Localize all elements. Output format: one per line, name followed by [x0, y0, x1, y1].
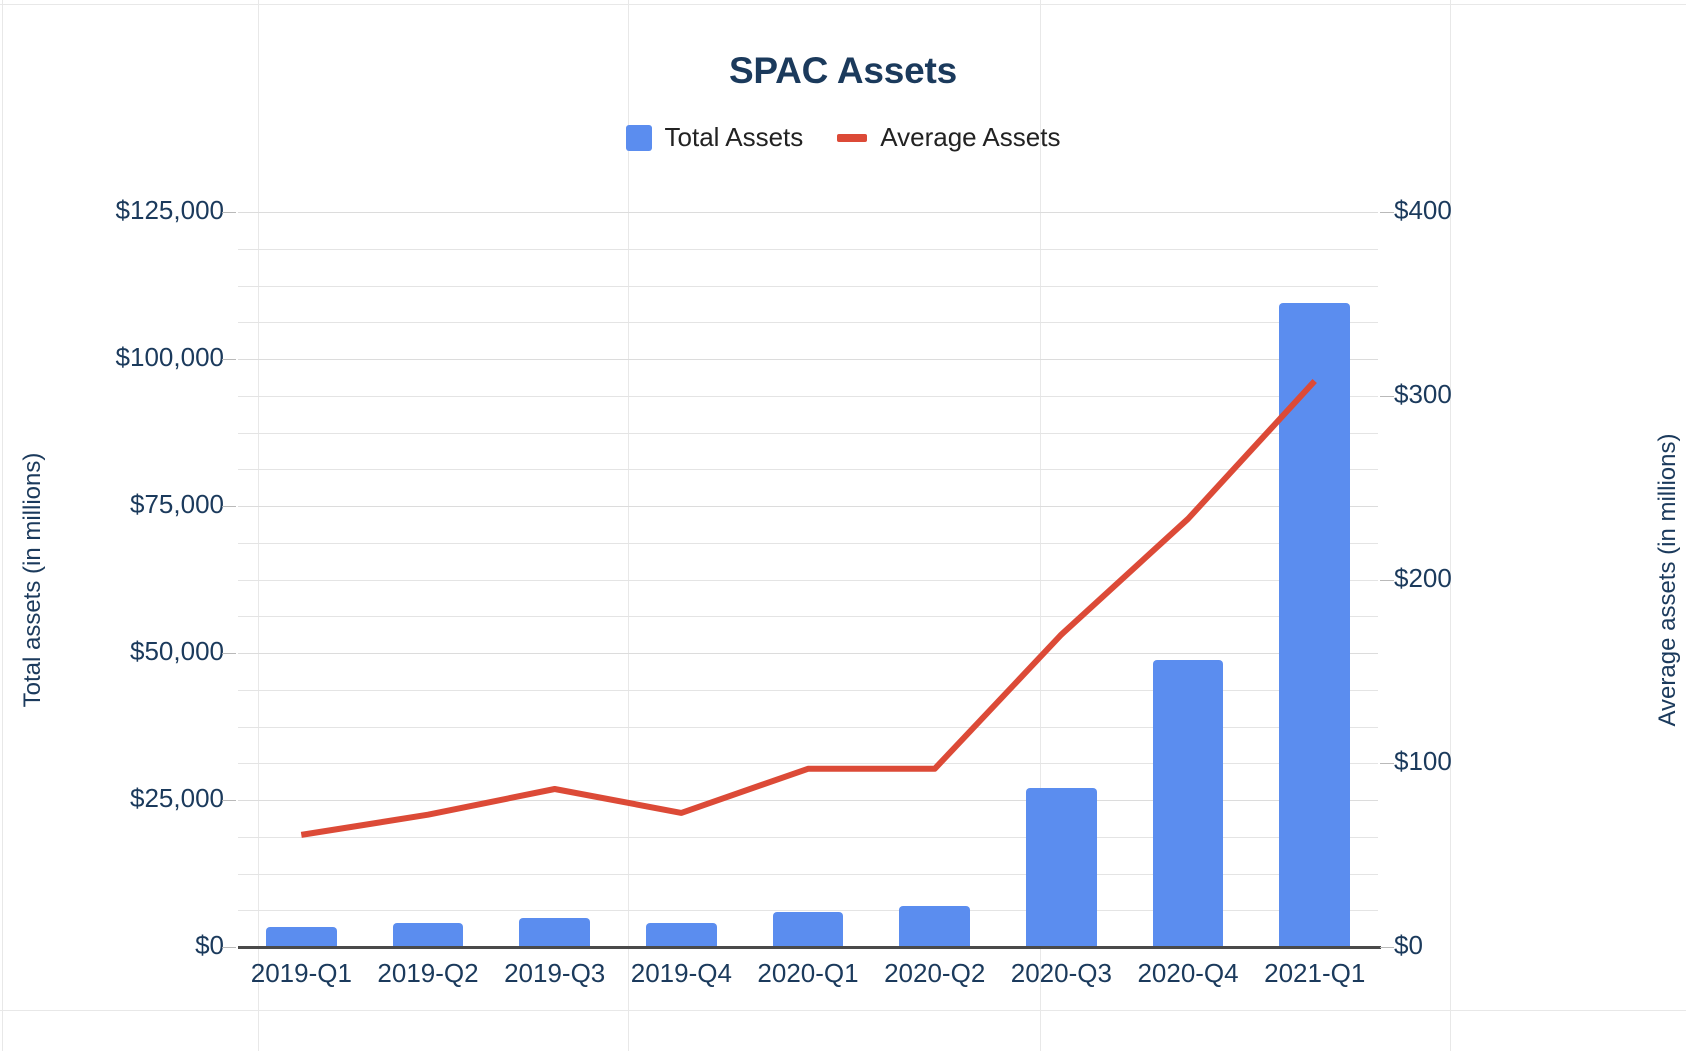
y-axis-left-tick-label: $75,000 — [130, 489, 224, 520]
legend-item-average-assets[interactable]: Average Assets — [837, 122, 1060, 153]
legend-label-total-assets: Total Assets — [665, 122, 804, 153]
legend-bar-swatch-icon — [626, 125, 652, 151]
y-axis-right-tick-label: $400 — [1394, 195, 1452, 226]
y-axis-left-tick-mark — [222, 212, 236, 213]
x-axis-tick-label: 2020-Q3 — [998, 958, 1125, 1002]
y-axis-right-tick-label: $0 — [1394, 930, 1423, 961]
x-axis-tick-label: 2020-Q2 — [871, 958, 998, 1002]
y-axis-right-tick-label: $100 — [1394, 746, 1452, 777]
y-axis-right-tick-mark — [1380, 212, 1394, 213]
line-series-average-assets — [238, 212, 1378, 947]
y-axis-left-tick-mark — [222, 359, 236, 360]
y-axis-left-tick-label: $0 — [195, 930, 224, 961]
x-axis-tick-label: 2020-Q4 — [1125, 958, 1252, 1002]
y-axis-right-tick-mark — [1380, 763, 1394, 764]
x-axis-tick-label: 2019-Q1 — [238, 958, 365, 1002]
y-axis-left-tick-mark — [222, 653, 236, 654]
spac-assets-chart: SPAC Assets Total Assets Average Assets … — [0, 0, 1686, 1051]
x-axis-baseline — [238, 946, 1381, 949]
y-axis-left-tick-mark — [222, 506, 236, 507]
x-axis-labels: 2019-Q12019-Q22019-Q32019-Q42020-Q12020-… — [238, 958, 1378, 1002]
y-axis-right-title: Average assets (in millions) — [1654, 300, 1682, 860]
y-axis-left-tick-label: $125,000 — [116, 195, 224, 226]
y-axis-left-tick-label: $50,000 — [130, 636, 224, 667]
x-axis-tick-label: 2019-Q2 — [365, 958, 492, 1002]
y-axis-left-tick-label: $100,000 — [116, 342, 224, 373]
y-axis-left-tick-mark — [222, 947, 236, 948]
x-axis-tick-label: 2020-Q1 — [745, 958, 872, 1002]
legend-label-average-assets: Average Assets — [880, 122, 1060, 153]
y-axis-right-tick-mark — [1380, 396, 1394, 397]
chart-legend: Total Assets Average Assets — [0, 122, 1686, 153]
x-axis-tick-label: 2019-Q4 — [618, 958, 745, 1002]
chart-title: SPAC Assets — [0, 50, 1686, 92]
x-axis-tick-label: 2021-Q1 — [1251, 958, 1378, 1002]
average-assets-line[interactable] — [301, 381, 1314, 835]
y-axis-right-tick-mark — [1380, 580, 1394, 581]
y-axis-left-tick-label: $25,000 — [130, 783, 224, 814]
y-axis-right-tick-mark — [1380, 947, 1394, 948]
legend-line-swatch-icon — [837, 134, 867, 142]
average-assets-polyline-svg — [238, 212, 1378, 947]
x-axis-tick-label: 2019-Q3 — [491, 958, 618, 1002]
legend-item-total-assets[interactable]: Total Assets — [626, 122, 804, 153]
y-axis-right-tick-label: $300 — [1394, 379, 1452, 410]
y-axis-left-title: Total assets (in millions) — [19, 300, 47, 860]
y-axis-left-tick-mark — [222, 800, 236, 801]
y-axis-right-tick-label: $200 — [1394, 563, 1452, 594]
